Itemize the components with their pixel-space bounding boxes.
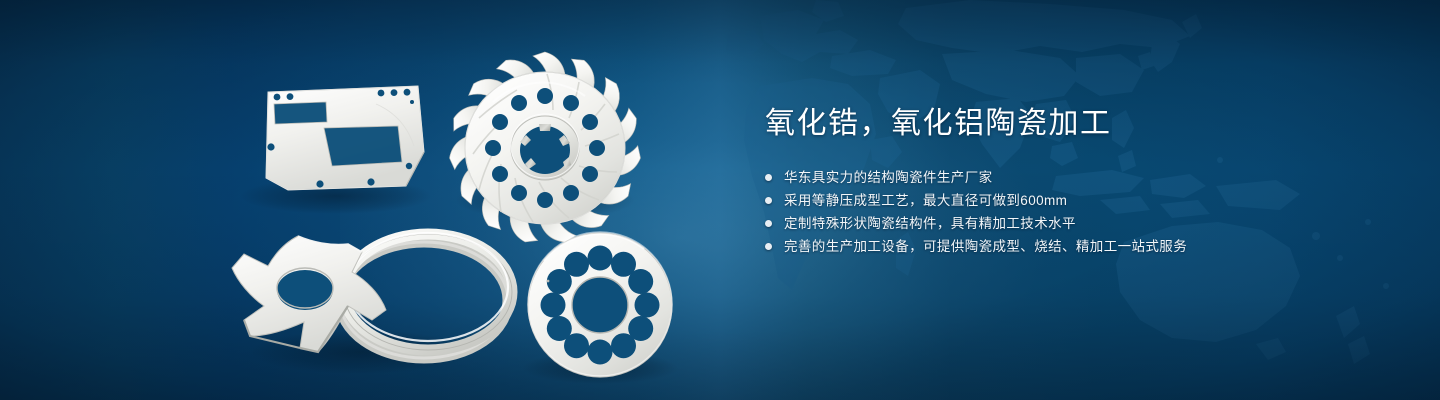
list-item: 华东具实力的结构陶瓷件生产厂家 xyxy=(765,166,1385,189)
banner-text-block: 氧化锆，氧化铝陶瓷加工 华东具实力的结构陶瓷件生产厂家 采用等静压成型工艺，最大… xyxy=(765,104,1385,258)
list-item: 定制特殊形状陶瓷结构件，具有精加工技术水平 xyxy=(765,212,1385,235)
list-item: 采用等静压成型工艺，最大直径可做到600mm xyxy=(765,189,1385,212)
bullet-dot-icon xyxy=(765,197,772,204)
ceramic-mounting-plate xyxy=(266,86,424,190)
product-images xyxy=(0,0,760,400)
feature-text: 定制特殊形状陶瓷结构件，具有精加工技术水平 xyxy=(784,212,1076,235)
feature-text: 采用等静压成型工艺，最大直径可做到600mm xyxy=(784,189,1067,212)
ceramic-valve-plate xyxy=(528,232,672,377)
feature-text: 华东具实力的结构陶瓷件生产厂家 xyxy=(784,166,993,189)
feature-list: 华东具实力的结构陶瓷件生产厂家 采用等静压成型工艺，最大直径可做到600mm 定… xyxy=(765,166,1385,258)
feature-text: 完善的生产加工设备，可提供陶瓷成型、烧结、精加工一站式服务 xyxy=(784,235,1187,258)
list-item: 完善的生产加工设备，可提供陶瓷成型、烧结、精加工一站式服务 xyxy=(765,235,1385,258)
product-banner: 氧化锆，氧化铝陶瓷加工 华东具实力的结构陶瓷件生产厂家 采用等静压成型工艺，最大… xyxy=(0,0,1440,400)
page-title: 氧化锆，氧化铝陶瓷加工 xyxy=(765,104,1385,144)
bullet-dot-icon xyxy=(765,220,772,227)
ceramic-impeller-disc xyxy=(447,52,642,246)
bullet-dot-icon xyxy=(765,174,772,181)
bullet-dot-icon xyxy=(765,243,772,250)
